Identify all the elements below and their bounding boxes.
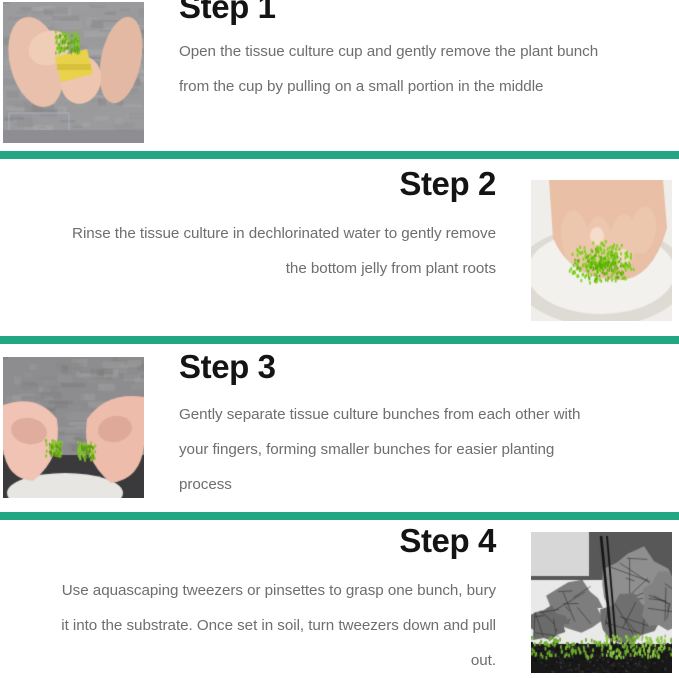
step-2-photo-canvas xyxy=(531,180,672,321)
step-1-photo-canvas xyxy=(3,2,144,143)
step-2-title: Step 2 xyxy=(399,165,496,202)
step-card-2: Step 2 Rinse the tissue culture in dechl… xyxy=(0,167,679,330)
step-2-photo xyxy=(531,180,672,321)
step-2-text-column: Step 2 Rinse the tissue culture in dechl… xyxy=(55,167,496,330)
step-3-title: Step 3 xyxy=(179,348,276,385)
step-4-photo xyxy=(531,532,672,673)
step-1-title: Step 1 xyxy=(179,0,276,25)
step-3-text-column: Step 3 Gently separate tissue culture bu… xyxy=(179,350,611,505)
step-2-body: Rinse the tissue culture in dechlorinate… xyxy=(55,216,496,286)
step-3-photo xyxy=(3,357,144,498)
steps-infographic: Step 1 Open the tissue culture cup and g… xyxy=(0,0,679,678)
step-4-photo-canvas xyxy=(531,532,672,673)
divider-3 xyxy=(0,512,679,520)
step-4-text-column: Step 4 Use aquascaping tweezers or pinse… xyxy=(55,524,496,678)
step-4-body: Use aquascaping tweezers or pinsettes to… xyxy=(55,573,496,678)
step-card-1: Step 1 Open the tissue culture cup and g… xyxy=(0,0,679,148)
step-1-body: Open the tissue culture cup and gently r… xyxy=(179,34,611,104)
step-card-4: Step 4 Use aquascaping tweezers or pinse… xyxy=(0,524,679,678)
divider-2 xyxy=(0,336,679,344)
step-3-photo-canvas xyxy=(3,357,144,498)
divider-1 xyxy=(0,151,679,159)
step-card-3: Step 3 Gently separate tissue culture bu… xyxy=(0,350,679,505)
step-1-text-column: Step 1 Open the tissue culture cup and g… xyxy=(179,0,611,148)
step-1-photo xyxy=(3,2,144,143)
step-4-title: Step 4 xyxy=(399,522,496,559)
step-3-body: Gently separate tissue culture bunches f… xyxy=(179,397,611,502)
